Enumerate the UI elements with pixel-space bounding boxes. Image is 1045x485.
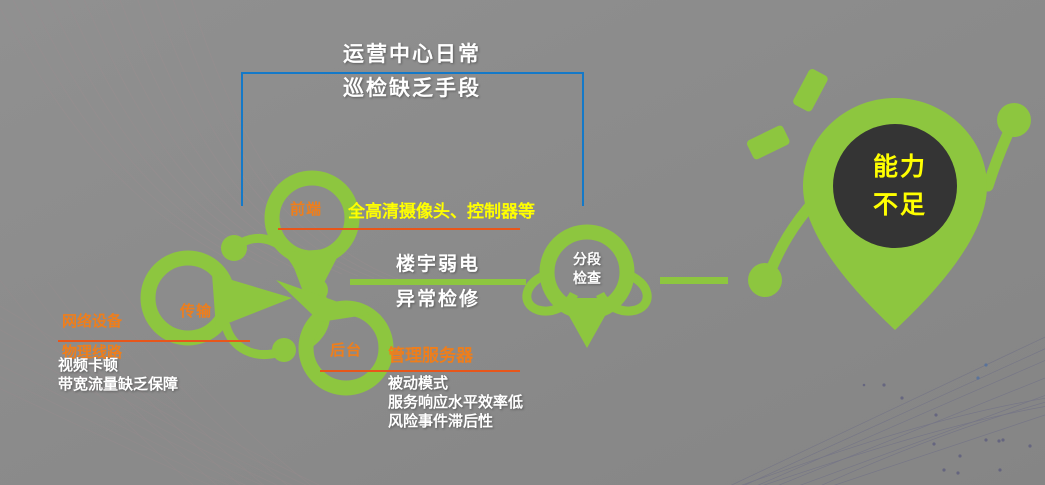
middle-caption-divider <box>350 279 526 285</box>
annotation-backend-list: 被动模式 服务响应水平效率低 风险事件滞后性 <box>388 374 523 431</box>
list-item: 风险事件滞后性 <box>388 412 523 431</box>
middle-caption-line2: 异常检修 <box>350 288 526 312</box>
annotation-transport-title-line1: 网络设备 <box>62 311 122 333</box>
annotation-front-title: 全高清摄像头、控制器等 <box>348 202 535 221</box>
list-item: 服务响应水平效率低 <box>388 393 523 412</box>
pin-backend-label: 后台 <box>318 339 374 360</box>
front-underline <box>278 228 520 230</box>
pin-result-label-line1: 能力 <box>845 148 955 186</box>
pin-segment-label-line2: 检查 <box>557 269 617 288</box>
annotation-backend-title: 管理服务器 <box>388 346 473 365</box>
middle-caption-line1: 楼宇弱电 <box>350 253 526 277</box>
pin-result-label: 能力 不足 <box>845 148 955 224</box>
page-title-line1: 运营中心日常 <box>262 42 562 68</box>
pin-transport <box>148 258 292 338</box>
pin-front-label: 前端 <box>278 198 334 219</box>
slide-canvas: 运营中心日常 巡检缺乏手段 前端 <box>0 0 1045 485</box>
pin-transport-label: 传输 <box>168 300 224 321</box>
list-item: 被动模式 <box>388 374 523 393</box>
list-item: 视频卡顿 <box>58 356 178 375</box>
annotation-backend-title-wrap: 管理服务器 <box>388 345 473 367</box>
list-item: 带宽流量缺乏保障 <box>58 375 178 394</box>
page-title-line2: 巡检缺乏手段 <box>262 76 562 102</box>
pin-segment-label: 分段 检查 <box>557 250 617 288</box>
connector-bar <box>660 277 728 284</box>
pin-segment-label-line1: 分段 <box>557 250 617 269</box>
annotation-transport-list: 视频卡顿 带宽流量缺乏保障 <box>58 356 178 394</box>
pin-result-label-line2: 不足 <box>845 186 955 224</box>
backend-underline <box>320 370 520 372</box>
